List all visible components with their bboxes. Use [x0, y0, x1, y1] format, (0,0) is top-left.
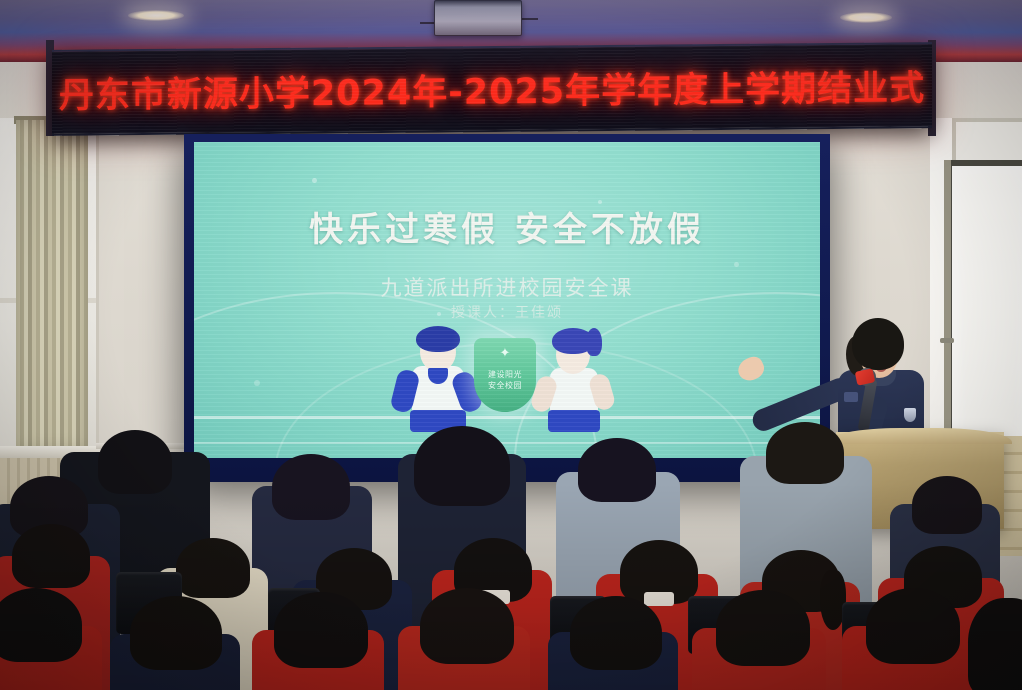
ceiling-projector [434, 0, 522, 36]
girl-ponytail [586, 328, 602, 356]
shield-line-2: 安全校园 [488, 380, 522, 391]
girl-hair [552, 328, 594, 354]
slide-glow-dot [734, 262, 739, 267]
projection-screen: 快乐过寒假 安全不放假 九道派出所进校园安全课 授课人：王佳颂 ✦ 建设阳光 安… [194, 142, 820, 458]
shield-star-icon: ✦ [500, 346, 511, 359]
window-right-transom [952, 118, 1022, 164]
girl-face [556, 336, 590, 374]
girl-arm-right [587, 372, 616, 412]
led-banner: 丹东市新源小学2024年-2025年学年度上学期结业式 [52, 42, 932, 136]
audience [0, 420, 1022, 690]
slide-subtitle: 九道派出所进校园安全课 [194, 272, 820, 302]
boy-arm-right [450, 369, 484, 414]
slide-title: 快乐过寒假 安全不放假 [194, 202, 820, 251]
ceiling-light-left [128, 10, 184, 21]
slide-glow-dot [312, 178, 317, 183]
boy-face [420, 332, 456, 372]
slide-glow-dot [254, 380, 260, 386]
ceiling-light-right [840, 12, 892, 23]
boy-hair [416, 326, 460, 352]
curtain-left [16, 120, 88, 452]
slide-glow-dot [437, 312, 441, 316]
boy-shirt [412, 366, 464, 422]
assembly-photo: 丹东市新源小学2024年-2025年学年度上学期结业式 快乐过寒假 安全不放假 … [0, 0, 1022, 690]
safety-shield-logo: ✦ 建设阳光 安全校园 [474, 338, 536, 412]
girl-shirt [550, 368, 598, 422]
slide-glow-dot [598, 200, 602, 204]
shield-line-1: 建设阳光 [488, 369, 522, 380]
officer-hair [852, 318, 904, 370]
officer-shoulder-patch [844, 392, 858, 402]
slide-presenter-line: 授课人：王佳颂 [194, 302, 820, 322]
slide-ground-line [194, 416, 820, 419]
led-banner-text: 丹东市新源小学2024年-2025年学年度上学期结业式 [52, 60, 932, 119]
window-handle[interactable] [940, 338, 954, 343]
boy-arm-left [389, 368, 421, 414]
boy-tie [428, 368, 448, 384]
girl-arm-left [529, 374, 559, 414]
